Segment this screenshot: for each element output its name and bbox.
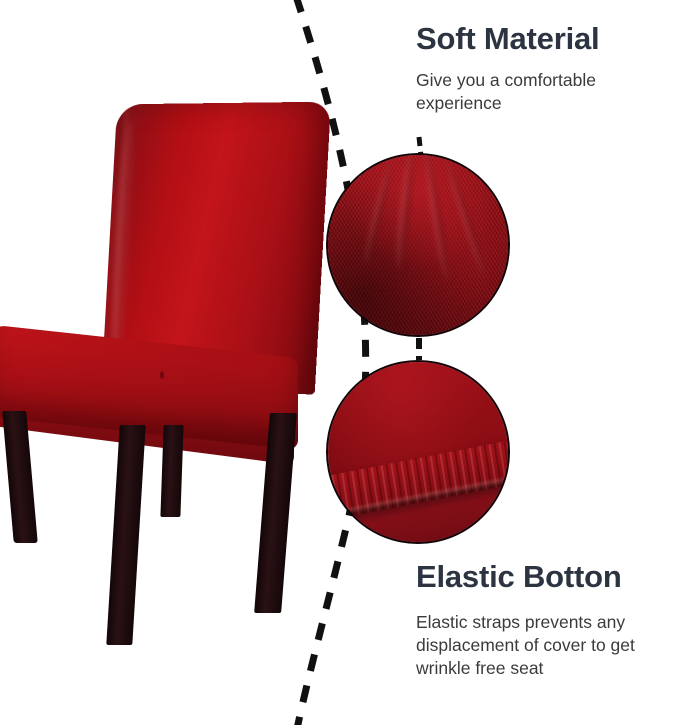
feature-heading-soft-material: Soft Material (416, 22, 666, 57)
feature-block-soft-material: Soft Material Give you a comfortable exp… (416, 22, 666, 115)
feature-block-elastic-bottom: Elastic Botton Elastic straps prevents a… (416, 560, 674, 680)
top-circle-leader-dash (419, 137, 421, 156)
chair-illustration (0, 95, 330, 640)
chair-seat-seam (160, 371, 164, 379)
chair-leg-front-right (106, 425, 145, 645)
fabric-weave-texture (328, 155, 508, 335)
elastic-hem-closeup-circle (328, 362, 508, 542)
product-infographic: Soft Material Give you a comfortable exp… (0, 0, 679, 725)
fabric-weave-closeup-circle (328, 155, 508, 335)
chair-leg-back-left (160, 425, 183, 517)
feature-description-elastic-bottom: Elastic straps prevents any displacement… (416, 611, 674, 680)
feature-description-soft-material: Give you a comfortable experience (416, 69, 666, 115)
feature-heading-elastic-bottom: Elastic Botton (416, 560, 674, 595)
